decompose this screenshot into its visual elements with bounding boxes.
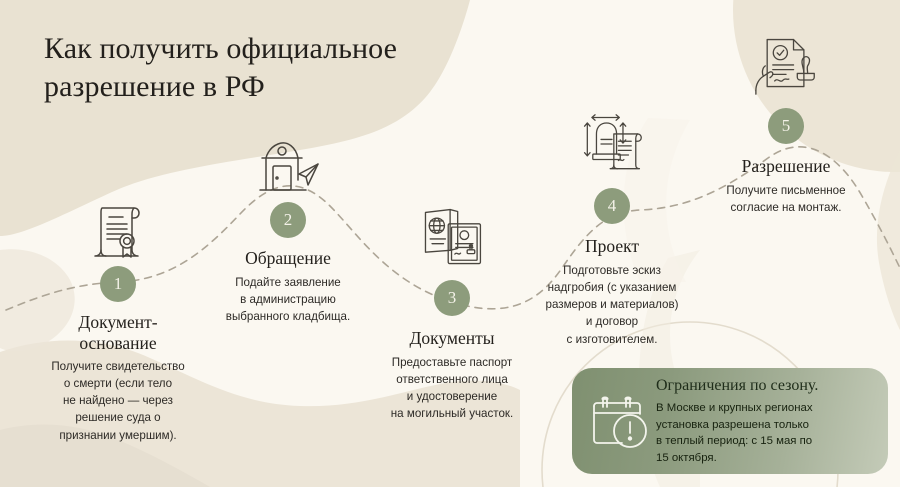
- page-title-line-2: разрешение в РФ: [44, 68, 397, 106]
- step-2-desc-line-1: Подайте заявление: [193, 274, 383, 291]
- step-2-description: Подайте заявление в администрацию выбран…: [193, 274, 383, 325]
- step-1-description: Получите свидетельство о смерти (если те…: [23, 358, 213, 444]
- step-4-desc-line-5: с изготовителем.: [517, 331, 707, 348]
- step-5-title-text: Разрешение: [742, 156, 831, 176]
- step-3-desc-line-2: ответственного лица: [357, 371, 547, 388]
- step-2-title-text: Обращение: [245, 248, 331, 268]
- step-2-number-badge: 2: [270, 202, 306, 238]
- page-title: Как получить официальное разрешение в РФ: [44, 30, 397, 107]
- step-4-title: Проект: [585, 236, 639, 257]
- step-1-title: Документ- основание: [43, 312, 193, 355]
- callout-body-line-4: 15 октября.: [656, 450, 818, 467]
- callout-body-line-1: В Москве и крупных регионах: [656, 400, 818, 417]
- tombstone-measurements-scroll-icon: [576, 112, 648, 176]
- step-4-desc-line-2: надгробия (с указанием: [517, 279, 707, 296]
- step-5-desc-line-1: Получите письменное: [691, 182, 881, 199]
- callout-body: В Москве и крупных регионах установка ра…: [656, 400, 818, 466]
- step-1-desc-line-2: о смерти (если тело: [23, 375, 213, 392]
- step-1-number: 1: [114, 275, 123, 292]
- step-5-number-badge: 5: [768, 108, 804, 144]
- callout-title: Ограничения по сезону.: [656, 376, 818, 395]
- callout-body-line-3: в теплый период: с 15 мая по: [656, 433, 818, 450]
- passport-id-documents-icon: [416, 206, 488, 270]
- hand-document-stamp-approved-icon: [750, 32, 822, 96]
- step-3-description: Предоставьте паспорт ответственного лица…: [357, 354, 547, 423]
- step-1-title-line-1: Документ-: [78, 312, 157, 332]
- step-1-desc-line-3: не найдено — через: [23, 392, 213, 409]
- step-3-number: 3: [448, 289, 457, 306]
- step-1-desc-line-4: решение суда о: [23, 409, 213, 426]
- step-3-title-text: Документы: [409, 328, 494, 348]
- step-3-desc-line-1: Предоставьте паспорт: [357, 354, 547, 371]
- step-2-desc-line-3: выбранного кладбища.: [193, 308, 383, 325]
- step-1-desc-line-1: Получите свидетельство: [23, 358, 213, 375]
- step-4-desc-line-3: размеров и материалов): [517, 296, 707, 313]
- step-2-desc-line-2: в администрацию: [193, 291, 383, 308]
- step-4-title-text: Проект: [585, 236, 639, 256]
- step-1-title-line-2: основание: [79, 333, 156, 353]
- step-4-number-badge: 4: [594, 188, 630, 224]
- calendar-alert-icon: [588, 390, 650, 452]
- page-title-line-1: Как получить официальное: [44, 30, 397, 68]
- step-4-description: Подготовьте эскиз надгробия (с указанием…: [517, 262, 707, 348]
- step-2-number: 2: [284, 211, 293, 228]
- certificate-scroll-seal-icon: [82, 200, 154, 264]
- step-5-description: Получите письменное согласие на монтаж.: [691, 182, 881, 216]
- step-3-desc-line-4: на могильный участок.: [357, 405, 547, 422]
- seasonal-restriction-callout[interactable]: Ограничения по сезону. В Москве и крупны…: [572, 368, 888, 474]
- step-3-title: Документы: [409, 328, 494, 349]
- step-4-number: 4: [608, 197, 617, 214]
- step-2-title: Обращение: [245, 248, 331, 269]
- step-4-desc-line-1: Подготовьте эскиз: [517, 262, 707, 279]
- step-4-desc-line-4: и договор: [517, 313, 707, 330]
- step-5-desc-line-2: согласие на монтаж.: [691, 199, 881, 216]
- infographic-canvas: Как получить официальное разрешение в РФ: [0, 0, 900, 487]
- callout-body-line-2: установка разрешена только: [656, 417, 818, 434]
- step-1-number-badge: 1: [100, 266, 136, 302]
- step-3-number-badge: 3: [434, 280, 470, 316]
- callout-text-block: Ограничения по сезону. В Москве и крупны…: [656, 376, 818, 466]
- step-1-desc-line-5: признании умершим).: [23, 427, 213, 444]
- step-5-number: 5: [782, 117, 791, 134]
- step-5-title: Разрешение: [742, 156, 831, 177]
- step-3-desc-line-3: и удостоверение: [357, 388, 547, 405]
- building-door-paperplane-icon: [252, 136, 324, 200]
